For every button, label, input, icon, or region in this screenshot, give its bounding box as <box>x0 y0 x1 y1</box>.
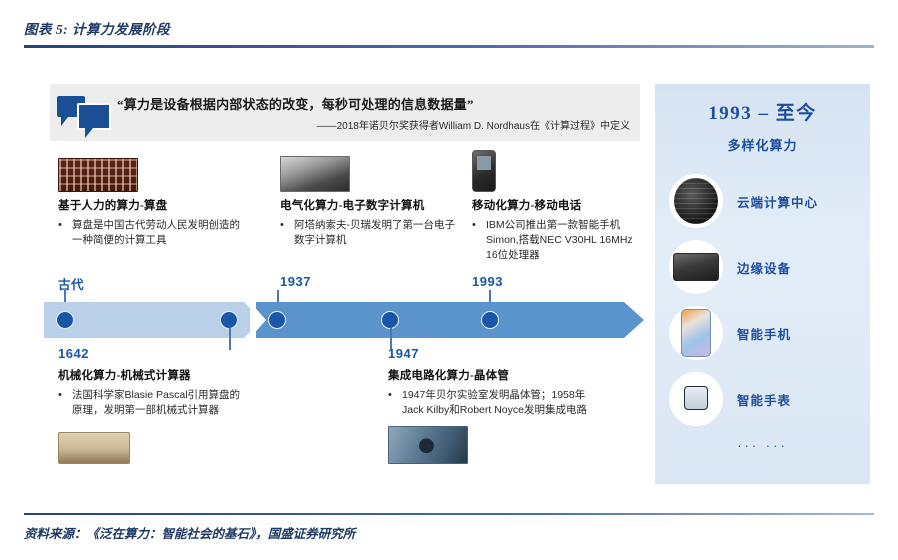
speech-bubble-front <box>77 103 111 130</box>
timeline-node-1642[interactable] <box>220 311 238 329</box>
stage-bullet-text-abacus: 算盘是中国古代劳动人民发明创造的一种简便的计算工具 <box>72 218 246 248</box>
bullet-dot-icon: • <box>472 218 486 264</box>
mechanical-calculator-photo <box>58 432 130 464</box>
mobile-phone-photo-wrap <box>472 150 640 192</box>
stage-bullet-abacus: • 算盘是中国古代劳动人民发明创造的一种简便的计算工具 <box>58 218 246 248</box>
quote-attribution: ——2018年诺贝尔奖获得者William D. Nordhaus在《计算过程》… <box>117 117 630 132</box>
timeline-node-1937[interactable] <box>268 311 286 329</box>
timeline-node-1947[interactable] <box>381 311 399 329</box>
early-computer-photo <box>280 156 350 192</box>
panel-title: 1993 – 至今 <box>655 98 870 125</box>
panel-item-label-smartphone: 智能手机 <box>737 324 791 343</box>
stage-bullet-transistor: • 1947年贝尔实验室发明晶体管；1958年Jack Kilby和Robert… <box>388 388 588 418</box>
year-label-1937: 1937 <box>280 274 311 289</box>
stage-title-transistor: 集成电路化算力-晶体管 <box>388 367 588 383</box>
page-title: 图表 5: 计算力发展阶段 <box>24 18 874 38</box>
bullet-dot-icon: • <box>388 388 402 418</box>
timeline-bar <box>44 302 644 338</box>
abacus-photo <box>58 158 138 192</box>
year-label-1947: 1947 <box>388 346 419 361</box>
source-note: 资料来源：《泛在算力：智能社会的基石》，国盛证券研究所 <box>24 523 874 542</box>
server-rack-icon <box>669 174 723 228</box>
panel-item-list: 云端计算中心 边缘设备 智能手机 智能手表 ··· ··· <box>655 168 870 453</box>
panel-subtitle: 多样化算力 <box>655 135 870 154</box>
integrated-circuit-photo-wrap <box>388 424 588 464</box>
stage-block-transistor: 集成电路化算力-晶体管 • 1947年贝尔实验室发明晶体管；1958年Jack … <box>388 362 588 464</box>
figure-footer: 资料来源：《泛在算力：智能社会的基石》，国盛证券研究所 <box>24 513 874 543</box>
panel-item-cloud-datacenter[interactable]: 云端计算中心 <box>655 168 870 234</box>
timeline-node-ancient[interactable] <box>56 311 74 329</box>
panel-item-edge-device[interactable]: 边缘设备 <box>655 234 870 300</box>
stage-bullet-electronic-computer: • 阿塔纳索夫-贝瑞发明了第一台电子数字计算机 <box>280 218 458 248</box>
integrated-circuit-photo <box>388 426 468 464</box>
timeline-segment-early <box>44 302 244 338</box>
abacus-photo-wrap <box>58 154 246 192</box>
timeline-arrow-head <box>624 302 644 338</box>
year-label-1993: 1993 <box>472 274 503 289</box>
panel-item-smartphone[interactable]: 智能手机 <box>655 300 870 366</box>
smartwatch-icon <box>669 372 723 426</box>
stage-bullet-text-mechanical-calculator: 法国科学家Blasie Pascal引用算盘的原理，发明第一部机械式计算器 <box>72 388 243 418</box>
stage-block-mobile-phone: 移动化算力-移动电话 • IBM公司推出第一款智能手机Simon,搭载NEC V… <box>472 150 640 264</box>
edge-device-icon <box>669 240 723 294</box>
panel-item-label-edge: 边缘设备 <box>737 258 791 277</box>
panel-item-label-cloud: 云端计算中心 <box>737 192 818 211</box>
timeline-node-1993[interactable] <box>481 311 499 329</box>
stage-bullet-text-mobile-phone: IBM公司推出第一款智能手机Simon,搭载NEC V30HL 16MHz 16… <box>486 218 640 264</box>
quote-text-wrap: “算力是设备根据内部状态的改变，每秒可处理的信息数据量” ——2018年诺贝尔奖… <box>117 94 640 132</box>
bullet-dot-icon: • <box>280 218 294 248</box>
stage-block-abacus: 基于人力的算力-算盘 • 算盘是中国古代劳动人民发明创造的一种简便的计算工具 <box>58 154 246 248</box>
stage-block-mechanical-calculator: 机械化算力-机械式计算器 • 法国科学家Blasie Pascal引用算盘的原理… <box>58 362 243 464</box>
stage-title-electronic-computer: 电气化算力-电子数字计算机 <box>280 197 458 213</box>
bullet-dot-icon: • <box>58 388 72 418</box>
year-label-1642: 1642 <box>58 346 89 361</box>
timeline-stage: “算力是设备根据内部状态的改变，每秒可处理的信息数据量” ——2018年诺贝尔奖… <box>0 62 898 492</box>
panel-item-smartwatch[interactable]: 智能手表 <box>655 366 870 432</box>
quote-box: “算力是设备根据内部状态的改变，每秒可处理的信息数据量” ——2018年诺贝尔奖… <box>50 84 640 141</box>
mobile-phone-photo <box>472 150 496 192</box>
panel-ellipsis: ··· ··· <box>655 438 870 453</box>
stage-title-abacus: 基于人力的算力-算盘 <box>58 197 246 213</box>
stage-bullet-mechanical-calculator: • 法国科学家Blasie Pascal引用算盘的原理，发明第一部机械式计算器 <box>58 388 243 418</box>
stage-bullet-text-transistor: 1947年贝尔实验室发明晶体管；1958年Jack Kilby和Robert N… <box>402 388 588 418</box>
smartphone-icon <box>669 306 723 360</box>
figure-header: 图表 5: 计算力发展阶段 <box>24 18 874 48</box>
timeline-segment-modern <box>256 302 624 338</box>
mechanical-calculator-photo-wrap <box>58 426 243 464</box>
quote-text: “算力是设备根据内部状态的改变，每秒可处理的信息数据量” <box>117 94 630 113</box>
year-label-ancient: 古代 <box>58 274 84 293</box>
stage-block-electronic-computer: 电气化算力-电子数字计算机 • 阿塔纳索夫-贝瑞发明了第一台电子数字计算机 <box>280 154 458 248</box>
stage-title-mechanical-calculator: 机械化算力-机械式计算器 <box>58 367 243 383</box>
panel-item-label-smartwatch: 智能手表 <box>737 390 791 409</box>
speech-bubbles-icon <box>55 91 117 135</box>
stage-title-mobile-phone: 移动化算力-移动电话 <box>472 197 640 213</box>
diverse-computing-panel: 1993 – 至今 多样化算力 云端计算中心 边缘设备 智能手机 <box>655 84 870 484</box>
header-divider <box>24 45 874 48</box>
stage-bullet-mobile-phone: • IBM公司推出第一款智能手机Simon,搭载NEC V30HL 16MHz … <box>472 218 640 264</box>
stage-bullet-text-electronic-computer: 阿塔纳索夫-贝瑞发明了第一台电子数字计算机 <box>294 218 458 248</box>
stem-1642 <box>229 328 231 350</box>
bullet-dot-icon: • <box>58 218 72 248</box>
early-computer-photo-wrap <box>280 154 458 192</box>
footer-divider <box>24 513 874 516</box>
